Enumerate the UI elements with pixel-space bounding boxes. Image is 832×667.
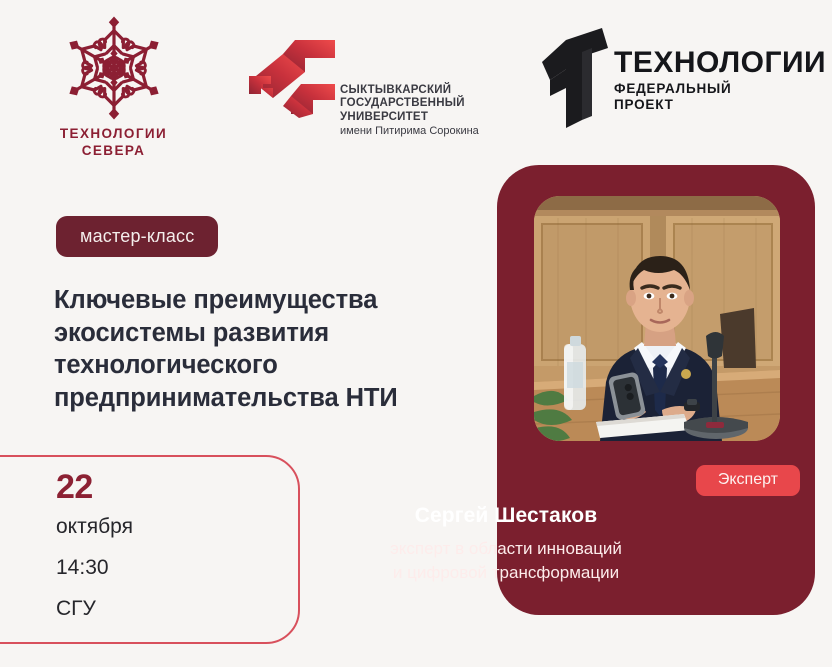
title-line-1: Ключевые преимущества (54, 284, 474, 317)
logo-nti-federal-project: ТЕХНОЛОГИИ ФЕДЕРАЛЬНЫЙ ПРОЕКТ (540, 22, 820, 134)
page-title: Ключевые преимущества экосистемы развити… (54, 284, 474, 415)
logo-north-line1: ТЕХНОЛОГИИ (36, 126, 191, 143)
logo-sgu-line2: ГОСУДАРСТВЕННЫЙ (340, 97, 479, 110)
logo-nti-small-line1: ФЕДЕРАЛЬНЫЙ (614, 81, 826, 97)
event-date-day: 22 (56, 470, 276, 504)
logo-sgu-text: СЫКТЫВКАРСКИЙ ГОСУДАРСТВЕННЫЙ УНИВЕРСИТЕ… (340, 84, 479, 138)
title-line-4: предпринимательства НТИ (54, 382, 474, 415)
speaker-name: Сергей Шестаков (0, 505, 832, 526)
poster-canvas: ТЕХНОЛОГИИ СЕВЕРА (0, 0, 832, 667)
logo-nti-small: ФЕДЕРАЛЬНЫЙ ПРОЕКТ (614, 81, 826, 113)
title-line-3: технологического (54, 349, 474, 382)
logo-row: ТЕХНОЛОГИИ СЕВЕРА (0, 0, 832, 165)
snowflake-ornament-icon (36, 12, 191, 124)
speaker-role: эксперт в области инноваций и цифровой т… (0, 537, 832, 585)
logo-syktyvkar-state-university: СЫКТЫВКАРСКИЙ ГОСУДАРСТВЕННЫЙ УНИВЕРСИТЕ… (243, 36, 493, 146)
logo-nti-text: ТЕХНОЛОГИИ ФЕДЕРАЛЬНЫЙ ПРОЕКТ (614, 48, 826, 113)
title-line-2: экосистемы развития (54, 317, 474, 350)
logo-nti-big: ТЕХНОЛОГИИ (614, 48, 826, 78)
speaker-role-line-2: и цифровой трансформации (180, 561, 832, 585)
speaker-role-badge: Эксперт (696, 465, 800, 496)
logo-sgu-line4: имени Питирима Сорокина (340, 125, 479, 138)
logo-sgu-line1: СЫКТЫВКАРСКИЙ (340, 84, 479, 97)
event-type-badge: мастер-класс (56, 216, 218, 257)
logo-north-text: ТЕХНОЛОГИИ СЕВЕРА (36, 126, 191, 160)
logo-sgu-line3: УНИВЕРСИТЕТ (340, 111, 479, 124)
event-place: СГУ (56, 598, 276, 619)
logo-nti-small-line2: ПРОЕКТ (614, 97, 826, 113)
logo-north-line2: СЕВЕРА (36, 143, 191, 160)
logo-technologies-of-north: ТЕХНОЛОГИИ СЕВЕРА (36, 12, 191, 160)
speaker-role-line-1: эксперт в области инноваций (180, 537, 832, 561)
speaker-photo (534, 196, 780, 441)
